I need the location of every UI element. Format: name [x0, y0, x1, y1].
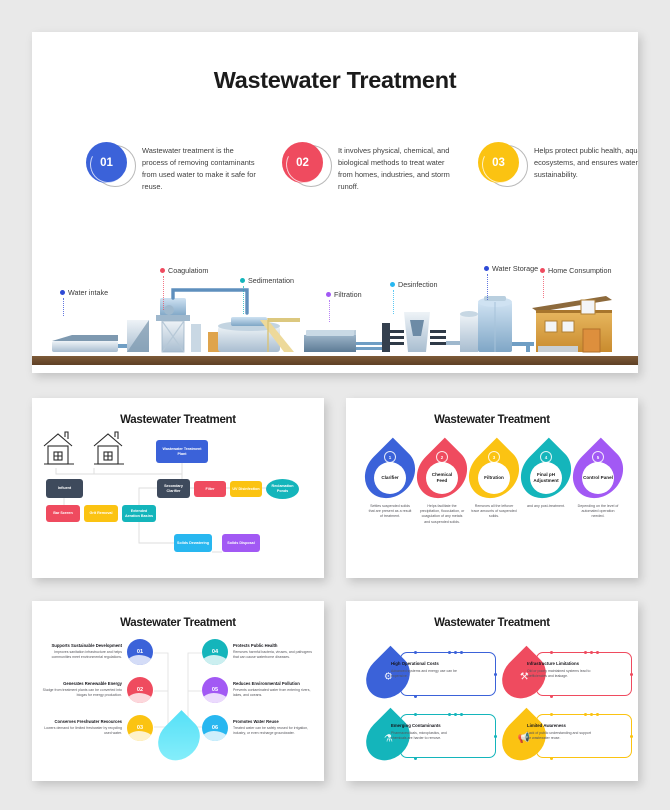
challenge-pip — [550, 695, 553, 698]
drop-description: and any post-treatment. — [520, 504, 572, 509]
benefit-description: Treated water can be safely reused for i… — [233, 726, 317, 736]
benefit-heading: Promotes Water Reuse — [233, 719, 317, 724]
benefit-description: Improves sanitation infrastructure and h… — [38, 650, 122, 660]
drop-description: Depending on the level of automated oper… — [572, 504, 624, 520]
process-label-lead — [163, 276, 164, 310]
process-label-dot — [60, 290, 65, 295]
house-icon — [44, 432, 74, 464]
drop-label: Final pH Adjustment — [530, 462, 562, 494]
hero-item-list: 01 Wastewater treatment is the process o… — [32, 140, 638, 196]
slide-benefits[interactable]: Wastewater Treatment Supports Sustainabl… — [32, 601, 324, 781]
number-badge: 03 — [476, 140, 528, 196]
flow-box-label: Filter — [205, 487, 214, 492]
wave-shape — [202, 731, 228, 741]
flow-box-label: Solids Disposal — [227, 541, 254, 546]
benefit-text-block: Protects Public HealthRemoves harmful ba… — [233, 643, 317, 660]
flow-box-label: Bar Screen — [53, 511, 72, 516]
flow-box[interactable]: Reclamation Ponds — [266, 479, 299, 499]
flow-box[interactable]: Wastewater Treatment Plant — [156, 440, 208, 463]
benefit-description: Removes harmful bacteria, viruses, and p… — [233, 650, 317, 660]
process-label-dot — [240, 278, 245, 283]
water-drop-item[interactable]: 3FiltrationRemoves all the leftover trac… — [468, 446, 520, 520]
benefit-item[interactable]: 04Protects Public HealthRemoves harmful … — [202, 639, 320, 665]
challenge-heading: High Operational Costs — [391, 661, 439, 666]
process-label-lead — [393, 290, 394, 314]
process-label-lead — [487, 274, 488, 300]
hero-item[interactable]: 03 Helps protect public health, aquatic … — [476, 140, 638, 196]
drop-number-badge: 2 — [436, 451, 448, 463]
benefit-number: 05 — [212, 687, 218, 693]
drop-number-badge: 5 — [592, 451, 604, 463]
challenge-description: Advanced systems and energy use can be e… — [391, 669, 459, 679]
benefit-text-block: Generates Renewable EnergySludge from tr… — [38, 681, 122, 698]
flow-box[interactable]: Extended Aeration Basins — [122, 505, 156, 522]
number-badge: 01 — [84, 140, 136, 196]
house-icon — [94, 432, 124, 464]
benefit-text-block: Supports Sustainable DevelopmentImproves… — [38, 643, 122, 660]
benefit-number-circle: 05 — [202, 677, 228, 703]
badge-disc: 01 — [86, 142, 127, 183]
drop-shape: 4Final pH Adjustment — [523, 446, 569, 500]
benefit-number-circle: 06 — [202, 715, 228, 741]
benefit-heading: Conserves Freshwater Resources — [38, 719, 122, 724]
process-label-lead — [63, 298, 64, 316]
process-label: Home Consumption — [540, 266, 612, 275]
treatment-plant-illustration: Water intakeCoagulatiomSedimentationFilt… — [32, 258, 638, 373]
benefit-number-circle: 04 — [202, 639, 228, 665]
benefit-number-circle: 01 — [127, 639, 153, 665]
hero-title: Wastewater Treatment — [32, 67, 638, 94]
hero-item-text: It involves physical, chemical, and biol… — [338, 145, 456, 193]
benefit-item[interactable]: 05Reduces Environmental PollutionPrevent… — [202, 677, 320, 703]
challenge-pip — [550, 757, 553, 760]
hero-item[interactable]: 02 It involves physical, chemical, and b… — [280, 140, 456, 196]
process-label-lead — [543, 276, 544, 298]
drop-label: Filtration — [478, 462, 510, 494]
challenge-item[interactable]: ⚒Infrastructure LimitationsOld or poorly… — [504, 649, 632, 701]
process-label: Sedimentation — [240, 276, 294, 285]
drops-title: Wastewater Treatment — [346, 414, 638, 426]
slide-flowchart[interactable]: Wastewater Treatment — [32, 398, 324, 578]
process-label-text: Desinfection — [398, 280, 438, 289]
plant-svg — [32, 258, 638, 373]
process-label: Desinfection — [390, 280, 438, 289]
challenge-pip — [630, 735, 633, 738]
wave-shape — [127, 731, 153, 741]
flow-box[interactable]: UV Disinfection — [230, 481, 262, 497]
flow-box[interactable]: Filter — [194, 481, 226, 497]
process-label-dot — [484, 266, 489, 271]
benefit-number: 06 — [212, 725, 218, 731]
drop-shape: 1Clarifier — [367, 446, 413, 500]
benefit-number-circle: 02 — [127, 677, 153, 703]
drop-number-badge: 3 — [488, 451, 500, 463]
hero-item[interactable]: 01 Wastewater treatment is the process o… — [84, 140, 260, 196]
challenge-pip — [494, 673, 497, 676]
drop-shape: 5Control Panel — [575, 446, 621, 500]
drop-number-badge: 1 — [384, 451, 396, 463]
process-label-text: Filtration — [334, 290, 362, 299]
number-badge: 02 — [280, 140, 332, 196]
benefit-item[interactable]: Conserves Freshwater ResourcesLowers dem… — [38, 715, 156, 741]
flow-box-label: Influent — [58, 486, 71, 491]
drop-description: Helps facilitate the precipitation, floc… — [416, 504, 468, 525]
drop-shape: 2Chemical Feed — [419, 446, 465, 500]
wave-shape — [202, 693, 228, 703]
challenge-pip — [414, 695, 417, 698]
process-label-lead — [329, 300, 330, 322]
flow-box-label: Wastewater Treatment Plant — [158, 447, 206, 457]
process-label-text: Water intake — [68, 288, 108, 297]
challenge-pip — [630, 673, 633, 676]
flow-box[interactable]: Influent — [46, 479, 83, 498]
process-label-text: Home Consumption — [548, 266, 612, 275]
challenge-heading: Infrastructure Limitations — [527, 661, 579, 666]
drop-description: Settles suspended solids that are presen… — [364, 504, 416, 520]
badge-disc: 03 — [478, 142, 519, 183]
benefit-text-block: Conserves Freshwater ResourcesLowers dem… — [38, 719, 122, 736]
water-drop-item[interactable]: 2Chemical FeedHelps facilitate the preci… — [416, 446, 468, 525]
drop-description: Removes all the leftover trace amounts o… — [468, 504, 520, 520]
process-label-dot — [160, 268, 165, 273]
flow-box-label: Secondary Clarifier — [159, 484, 188, 494]
drop-number-badge: 4 — [540, 451, 552, 463]
hero-item-text: Helps protect public health, aquatic eco… — [534, 145, 638, 181]
badge-disc: 02 — [282, 142, 323, 183]
challenge-pip — [414, 757, 417, 760]
process-label: Water Storage — [484, 264, 538, 273]
flow-box[interactable]: Bar Screen — [46, 505, 80, 522]
slide-waterdrops[interactable]: Wastewater Treatment 1ClarifierSettles s… — [346, 398, 638, 578]
benefit-number-circle: 03 — [127, 715, 153, 741]
process-label-text: Water Storage — [492, 264, 538, 273]
process-label: Coagulatiom — [160, 266, 208, 275]
drop-label: Control Panel — [582, 462, 614, 494]
slide-challenges[interactable]: Wastewater Treatment ⚙High Operational C… — [346, 601, 638, 781]
challenge-description: Lack of public understanding and support… — [527, 731, 595, 741]
process-label-text: Coagulatiom — [168, 266, 208, 275]
water-drop-item[interactable]: 4Final pH Adjustmentand any post-treatme… — [520, 446, 572, 509]
benefit-number: 04 — [212, 649, 218, 655]
benefit-description: Prevents contaminated water from enterin… — [233, 688, 317, 698]
flow-box-label: UV Disinfection — [232, 487, 259, 492]
benefit-heading: Protects Public Health — [233, 643, 317, 648]
benefit-number: 02 — [137, 687, 143, 693]
benefit-number: 01 — [137, 649, 143, 655]
benefit-description: Lowers demand for limited freshwater by … — [38, 726, 122, 736]
benefit-heading: Supports Sustainable Development — [38, 643, 122, 648]
wave-shape — [202, 655, 228, 665]
challenge-heading: Limited Awareness — [527, 723, 566, 728]
wave-shape — [127, 655, 153, 665]
water-drop-item[interactable]: 5Control PanelDepending on the level of … — [572, 446, 624, 520]
challenge-item[interactable]: ⚗Emerging ContaminantsPharmaceuticals, m… — [368, 711, 496, 763]
process-label: Water intake — [60, 288, 108, 297]
flow-box-label: Reclamation Ponds — [268, 484, 297, 494]
screenshot-page: Wastewater Treatment 01 Wastewater treat… — [0, 0, 670, 810]
benefit-item[interactable]: Supports Sustainable DevelopmentImproves… — [38, 639, 156, 665]
water-drop-item[interactable]: 1ClarifierSettles suspended solids that … — [364, 446, 416, 520]
challenge-pip — [494, 735, 497, 738]
process-label: Filtration — [326, 290, 362, 299]
benefit-heading: Generates Renewable Energy — [38, 681, 122, 686]
flow-box-label: Extended Aeration Basins — [124, 509, 154, 519]
hero-item-text: Wastewater treatment is the process of r… — [142, 145, 260, 193]
flow-box[interactable]: Solids Dewatering — [174, 534, 212, 552]
slide-hero[interactable]: Wastewater Treatment 01 Wastewater treat… — [32, 32, 638, 373]
flow-box[interactable]: Solids Disposal — [222, 534, 260, 552]
benefit-item[interactable]: 06Promotes Water ReuseTreated water can … — [202, 715, 320, 741]
benefit-text-block: Promotes Water ReuseTreated water can be… — [233, 719, 317, 736]
challenges-title: Wastewater Treatment — [346, 617, 638, 629]
challenge-item[interactable]: 📢Limited AwarenessLack of public underst… — [504, 711, 632, 763]
process-label-text: Sedimentation — [248, 276, 294, 285]
process-label-lead — [243, 286, 244, 314]
benefit-heading: Reduces Environmental Pollution — [233, 681, 317, 686]
drop-label: Chemical Feed — [426, 462, 458, 494]
benefit-text-block: Reduces Environmental PollutionPrevents … — [233, 681, 317, 698]
challenge-description: Pharmaceuticals, microplastics, and chem… — [391, 731, 459, 741]
process-label-dot — [326, 292, 331, 297]
process-label-dot — [540, 268, 545, 273]
flow-box-label: Grit Removal — [90, 511, 113, 516]
wave-shape — [127, 693, 153, 703]
drop-shape: 3Filtration — [471, 446, 517, 500]
flow-box[interactable]: Secondary Clarifier — [157, 479, 190, 498]
flow-box-label: Solids Dewatering — [177, 541, 209, 546]
flow-box[interactable]: Grit Removal — [84, 505, 118, 522]
drop-label: Clarifier — [374, 462, 406, 494]
benefit-item[interactable]: Generates Renewable EnergySludge from tr… — [38, 677, 156, 703]
challenge-item[interactable]: ⚙High Operational CostsAdvanced systems … — [368, 649, 496, 701]
challenge-description: Old or poorly maintained systems lead to… — [527, 669, 595, 679]
benefit-description: Sludge from treatment plants can be conv… — [38, 688, 122, 698]
process-label-dot — [390, 282, 395, 287]
challenge-heading: Emerging Contaminants — [391, 723, 441, 728]
benefit-number: 03 — [137, 725, 143, 731]
